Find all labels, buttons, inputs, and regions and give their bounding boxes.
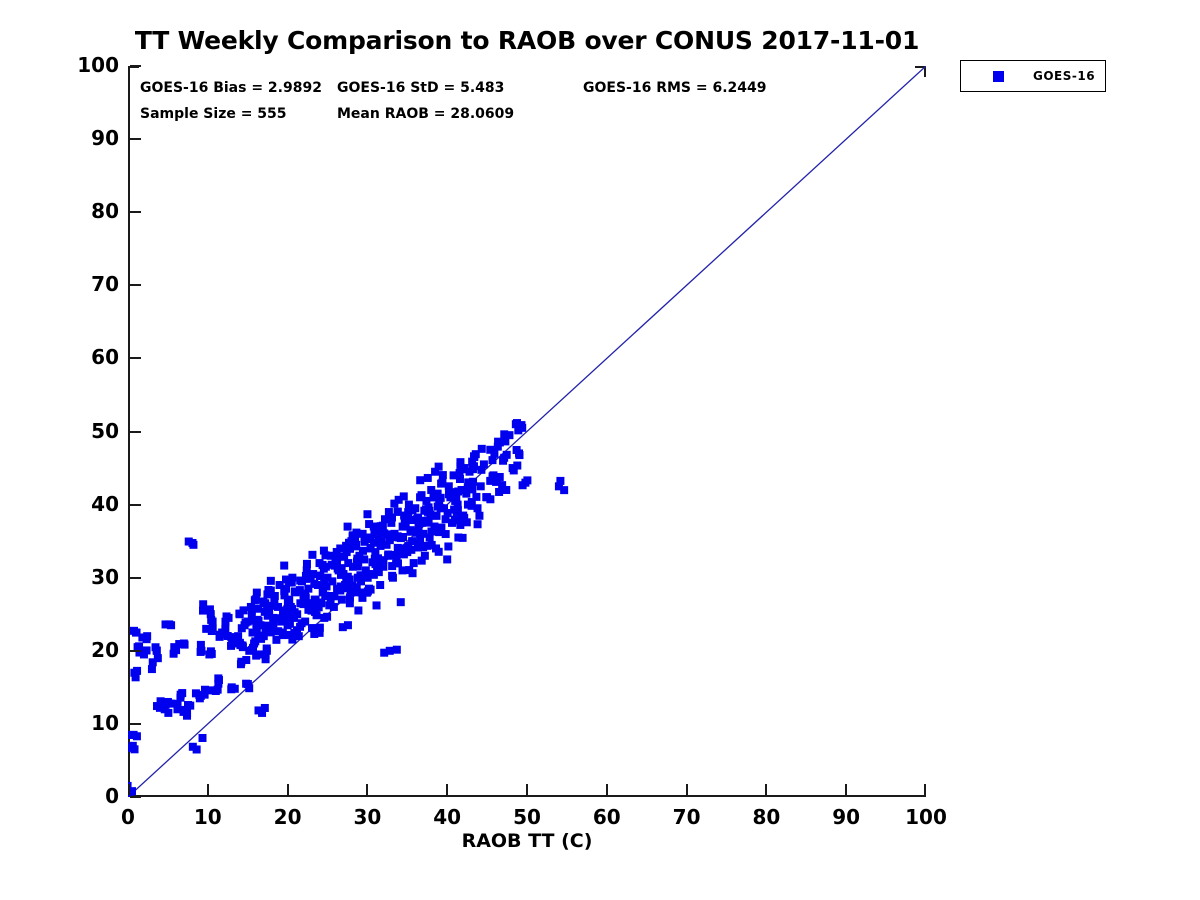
- scatter-point: [242, 656, 250, 664]
- scatter-point: [253, 616, 261, 624]
- scatter-point: [556, 477, 564, 485]
- scatter-point: [459, 534, 467, 542]
- scatter-point: [407, 528, 415, 536]
- scatter-point: [214, 674, 222, 682]
- scatter-point: [214, 686, 222, 694]
- scatter-point: [164, 709, 172, 717]
- scatter-point: [244, 680, 252, 688]
- y-axis-tick-label: 80: [91, 199, 119, 223]
- x-axis-tick-label: 80: [752, 805, 780, 829]
- scatter-point: [394, 559, 402, 567]
- scatter-point: [227, 685, 235, 693]
- y-axis-tick-label: 90: [91, 126, 119, 150]
- scatter-point: [463, 518, 471, 526]
- scatter-point: [418, 557, 426, 565]
- scatter-point: [344, 523, 352, 531]
- scatter-point: [288, 579, 296, 587]
- x-axis-tick: [765, 784, 767, 795]
- y-axis-tick: [130, 796, 141, 798]
- scatter-point: [490, 450, 498, 458]
- scatter-point: [390, 500, 398, 508]
- x-axis-tick-label: 70: [673, 805, 701, 829]
- scatter-point: [404, 508, 412, 516]
- scatter-point: [385, 508, 393, 516]
- scatter-point: [443, 555, 451, 563]
- legend-swatch-goes-16: [993, 71, 1004, 82]
- legend: GOES-16: [960, 60, 1106, 92]
- scatter-point: [181, 706, 189, 714]
- scatter-point: [498, 481, 506, 489]
- scatter-point: [424, 474, 432, 482]
- scatter-point: [454, 487, 462, 495]
- y-axis-tick-label: 0: [105, 784, 119, 808]
- scatter-point: [223, 612, 231, 620]
- scatter-data-layer: [128, 66, 926, 797]
- scatter-point: [267, 577, 275, 585]
- scatter-point: [397, 598, 405, 606]
- x-axis-tick: [366, 784, 368, 795]
- x-axis-title: RAOB TT (C): [128, 830, 926, 852]
- y-axis-tick-label: 20: [91, 638, 119, 662]
- page-title: TT Weekly Comparison to RAOB over CONUS …: [128, 26, 926, 55]
- scatter-point: [460, 465, 468, 473]
- scatter-point: [255, 706, 263, 714]
- x-axis-tick-label: 30: [353, 805, 381, 829]
- scatter-point: [307, 574, 315, 582]
- scatter-point: [323, 613, 331, 621]
- scatter-point: [308, 624, 316, 632]
- y-axis-tick: [130, 577, 141, 579]
- scatter-point: [437, 524, 445, 532]
- scatter-point: [270, 595, 278, 603]
- scatter-point: [281, 591, 289, 599]
- scatter-point: [415, 522, 423, 530]
- scatter-point: [199, 600, 207, 608]
- scatter-point: [199, 734, 207, 742]
- scatter-point: [472, 493, 480, 501]
- scatter-point: [197, 648, 205, 656]
- scatter-point: [189, 743, 197, 751]
- scatter-point: [131, 745, 139, 753]
- x-axis-tick-label: 10: [194, 805, 222, 829]
- y-axis-tick: [130, 65, 141, 67]
- scatter-point: [500, 454, 508, 462]
- scatter-point: [416, 476, 424, 484]
- scatter-point: [472, 450, 480, 458]
- scatter-point: [327, 596, 335, 604]
- scatter-point: [253, 589, 261, 597]
- scatter-point: [384, 530, 392, 538]
- scatter-point: [376, 581, 384, 589]
- scatter-point: [401, 518, 409, 526]
- x-axis-tick-label: 100: [905, 805, 947, 829]
- scatter-point: [482, 493, 490, 501]
- y-axis-tick-label: 60: [91, 345, 119, 369]
- scatter-point: [468, 458, 476, 466]
- scatter-point: [469, 478, 477, 486]
- plot-area: [128, 66, 926, 797]
- scatter-point: [435, 548, 443, 556]
- scatter-point: [252, 652, 260, 660]
- y-axis-tick-label: 30: [91, 565, 119, 589]
- scatter-point: [425, 519, 433, 527]
- scatter-point: [316, 624, 324, 632]
- scatter-point: [475, 512, 483, 520]
- scatter-point: [393, 552, 401, 560]
- scatter-point: [287, 631, 295, 639]
- scatter-point: [269, 619, 277, 627]
- scatter-point: [337, 582, 345, 590]
- y-axis-tick: [130, 284, 141, 286]
- y-axis-tick: [130, 211, 141, 213]
- scatter-point: [143, 635, 151, 643]
- scatter-point: [388, 572, 396, 580]
- x-axis-tick: [128, 784, 130, 795]
- scatter-point: [394, 532, 402, 540]
- scatter-point: [400, 550, 408, 558]
- scatter-point: [375, 568, 383, 576]
- scatter-point: [474, 520, 482, 528]
- scatter-point: [418, 491, 426, 499]
- scatter-point: [264, 612, 272, 620]
- scatter-point: [286, 620, 294, 628]
- scatter-point: [523, 476, 531, 484]
- scatter-point: [495, 488, 503, 496]
- scatter-point: [346, 575, 354, 583]
- scatter-point: [368, 558, 376, 566]
- x-axis-tick-label: 90: [832, 805, 860, 829]
- scatter-point: [338, 596, 346, 604]
- scatter-point: [153, 646, 161, 654]
- scatter-point: [201, 686, 209, 694]
- x-axis-tick: [924, 784, 926, 795]
- scatter-point: [208, 650, 216, 658]
- stat-mean-raob: Mean RAOB = 28.0609: [337, 106, 514, 122]
- scatter-point: [488, 474, 496, 482]
- scatter-point: [263, 644, 271, 652]
- scatter-point: [380, 649, 388, 657]
- scatter-point: [272, 636, 280, 644]
- y-axis-tick-label: 50: [91, 419, 119, 443]
- scatter-point: [432, 512, 440, 520]
- stat-bias: GOES-16 Bias = 2.9892: [140, 80, 322, 96]
- x-axis-tick: [526, 784, 528, 795]
- x-axis-tick: [287, 784, 289, 795]
- stat-std: GOES-16 StD = 5.483: [337, 80, 504, 96]
- scatter-point: [444, 542, 452, 550]
- scatter-point: [356, 571, 364, 579]
- scatter-point: [394, 508, 402, 516]
- scatter-point: [280, 562, 288, 570]
- scatter-point: [560, 486, 568, 494]
- scatter-point: [410, 559, 418, 567]
- y-axis-tick: [130, 431, 141, 433]
- scatter-point: [176, 694, 184, 702]
- stat-sample-size: Sample Size = 555: [140, 106, 287, 122]
- scatter-point: [425, 507, 433, 515]
- scatter-point: [262, 624, 270, 632]
- scatter-point: [347, 589, 355, 597]
- scatter-point: [308, 551, 316, 559]
- y-axis-tick: [130, 650, 141, 652]
- stat-rms: GOES-16 RMS = 6.2449: [583, 80, 767, 96]
- scatter-point: [224, 632, 232, 640]
- scatter-point: [175, 640, 183, 648]
- scatter-point: [354, 563, 362, 571]
- x-axis-tick-label: 40: [433, 805, 461, 829]
- scatter-point: [236, 639, 244, 647]
- scatter-point: [320, 547, 328, 555]
- y-axis-tick: [130, 723, 141, 725]
- scatter-point: [349, 533, 357, 541]
- scatter-point: [365, 520, 373, 528]
- scatter-point: [515, 424, 523, 432]
- scatter-point: [165, 620, 173, 628]
- scatter-point: [427, 528, 435, 536]
- scatter-point: [416, 540, 424, 548]
- x-axis-tick: [207, 784, 209, 795]
- scatter-point: [409, 569, 417, 577]
- scatter-point: [248, 606, 256, 614]
- scatter-point: [216, 633, 224, 641]
- scatter-point: [373, 601, 381, 609]
- legend-label-goes-16: GOES-16: [1033, 69, 1095, 83]
- scatter-point: [377, 542, 385, 550]
- x-axis-tick-label: 0: [121, 805, 135, 829]
- scatter-point: [352, 542, 360, 550]
- scatter-point: [363, 589, 371, 597]
- scatter-point: [477, 466, 485, 474]
- scatter-point: [284, 598, 292, 606]
- scatter-point: [319, 561, 327, 569]
- scatter-point: [209, 624, 217, 632]
- scatter-point: [185, 538, 193, 546]
- y-axis-tick-label: 70: [91, 272, 119, 296]
- y-axis-tick: [130, 138, 141, 140]
- x-axis-tick: [446, 784, 448, 795]
- scatter-point: [316, 572, 324, 580]
- scatter-point: [267, 587, 275, 595]
- y-axis-tick-label: 40: [91, 492, 119, 516]
- scatter-point: [149, 658, 157, 666]
- scatter-point: [494, 443, 502, 451]
- scatter-point: [428, 541, 436, 549]
- scatter-point: [439, 471, 447, 479]
- scatter-point: [515, 451, 523, 459]
- scatter-point: [274, 627, 282, 635]
- scatter-point: [128, 731, 136, 739]
- scatter-point: [437, 504, 445, 512]
- scatter-point: [393, 646, 401, 654]
- scatter-point: [437, 480, 445, 488]
- scatter-point: [153, 702, 161, 710]
- y-axis-tick: [130, 357, 141, 359]
- scatter-point: [259, 598, 267, 606]
- scatter-point: [450, 506, 458, 514]
- scatter-point: [340, 553, 348, 561]
- scatter-point: [379, 522, 387, 530]
- scatter-point: [433, 491, 441, 499]
- scatter-point: [510, 466, 518, 474]
- scatter-point: [366, 535, 374, 543]
- scatter-point: [133, 629, 141, 637]
- scatter-point: [363, 510, 371, 518]
- scatter-point: [197, 641, 205, 649]
- y-axis-tick: [130, 504, 141, 506]
- scatter-point: [431, 468, 439, 476]
- scatter-point: [333, 560, 341, 568]
- x-axis-tick-label: 50: [513, 805, 541, 829]
- x-axis-tick-label: 20: [274, 805, 302, 829]
- y-axis-tick-label: 100: [77, 53, 119, 77]
- scatter-point: [260, 632, 268, 640]
- scatter-point: [468, 502, 476, 510]
- scatter-point: [501, 437, 509, 445]
- scatter-point: [384, 551, 392, 559]
- scatter-point: [300, 600, 308, 608]
- scatter-point: [367, 544, 375, 552]
- scatter-point: [313, 611, 321, 619]
- scatter-point: [227, 642, 235, 650]
- scatter-series-goes-16: [128, 419, 568, 797]
- scatter-point: [303, 560, 311, 568]
- x-axis-tick: [845, 784, 847, 795]
- y-axis-tick-label: 10: [91, 711, 119, 735]
- scatter-point: [253, 626, 261, 634]
- scatter-point: [296, 623, 304, 631]
- scatter-point: [344, 621, 352, 629]
- scatter-point: [354, 606, 362, 614]
- x-axis-tick: [686, 784, 688, 795]
- scatter-point: [477, 482, 485, 490]
- scatter-point: [445, 490, 453, 498]
- x-axis-tick: [606, 784, 608, 795]
- scatter-point: [207, 610, 215, 618]
- scatter-point: [251, 637, 259, 645]
- scatter-point: [167, 700, 175, 708]
- scatter-point: [496, 473, 504, 481]
- scatter-point: [320, 579, 328, 587]
- scatter-point: [143, 646, 151, 654]
- scatter-point: [240, 606, 248, 614]
- chart-page: TT Weekly Comparison to RAOB over CONUS …: [0, 0, 1200, 900]
- scatter-point: [296, 586, 304, 594]
- scatter-point: [500, 430, 508, 438]
- x-axis-tick-label: 60: [593, 805, 621, 829]
- scatter-point: [283, 607, 291, 615]
- scatter-point: [132, 673, 140, 681]
- scatter-point: [238, 624, 246, 632]
- scatter-point: [359, 547, 367, 555]
- scatter-point: [317, 599, 325, 607]
